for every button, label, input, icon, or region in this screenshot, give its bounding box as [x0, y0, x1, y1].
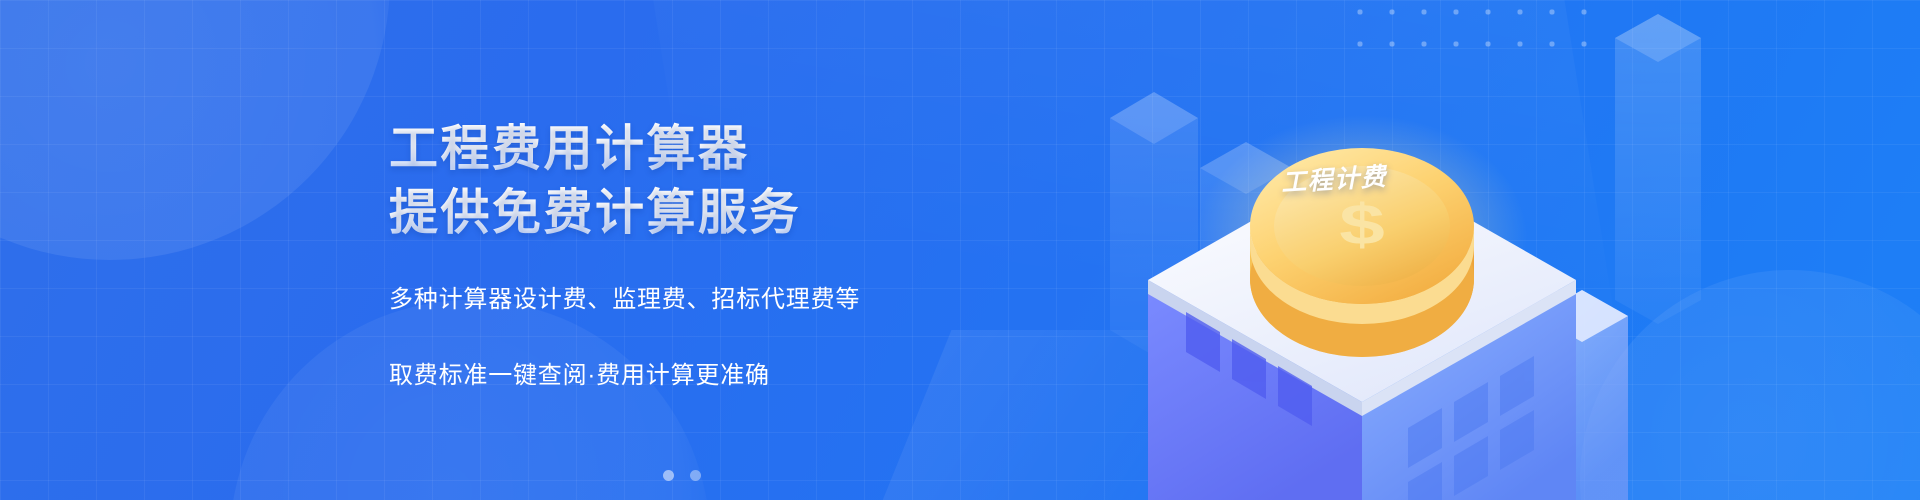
- banner-copy-block: 工程费用计算器 提供免费计算服务 多种计算器设计费、监理费、招标代理费等 取费标…: [389, 118, 1009, 396]
- hero-illustration: $: [1090, 30, 1650, 500]
- subtitle-line1: 多种计算器设计费、监理费、招标代理费等: [389, 279, 1009, 320]
- carousel-dots[interactable]: [663, 470, 701, 481]
- subtitle-line2: 取费标准一键查阅·费用计算更准确: [389, 355, 1009, 396]
- page-title-line1: 工程费用计算器: [389, 118, 1009, 180]
- carousel-dot-2[interactable]: [690, 470, 701, 481]
- coin-dollar-symbol: $: [1339, 192, 1385, 256]
- decorative-circle-top-left: [0, 0, 390, 260]
- carousel-dot-1[interactable]: [663, 470, 674, 481]
- page-title-line2: 提供免费计算服务: [389, 182, 1009, 244]
- hero-banner: $ 工程计费 工程费用计算器 提供免费计算服务 多种计算器设计费、监理费、招标代…: [0, 0, 1920, 500]
- badge-label: 工程计费: [1280, 157, 1388, 199]
